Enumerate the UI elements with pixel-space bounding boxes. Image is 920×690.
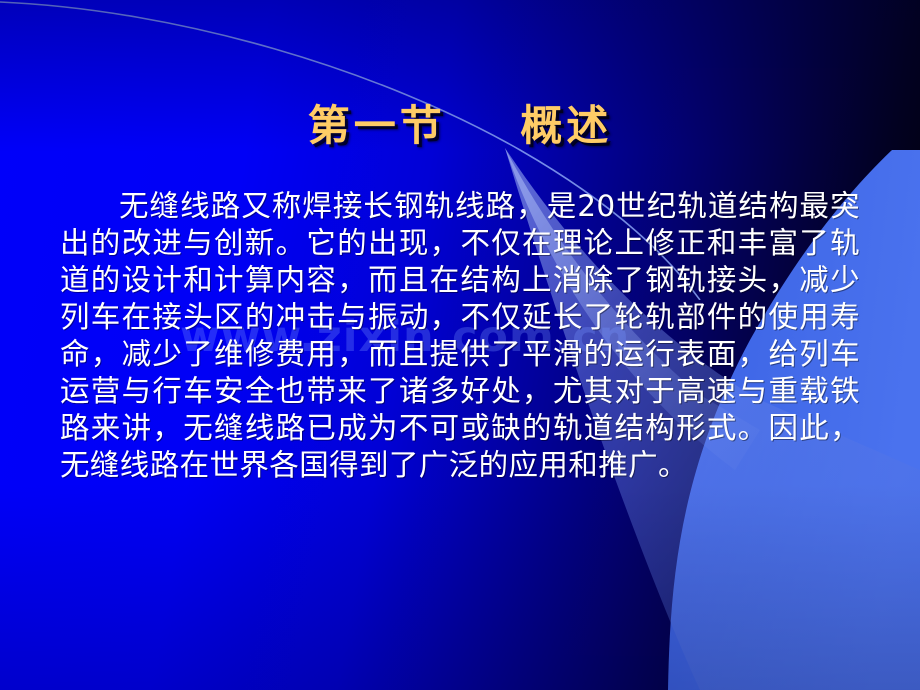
slide-title: 第一节 概述 — [0, 92, 920, 153]
presentation-slide: www.zixin.com.cn 第一节 概述 无缝线路又称焊接长钢轨线路，是2… — [0, 0, 920, 690]
slide-body-paragraph: 无缝线路又称焊接长钢轨线路，是20世纪轨道结构最突出的改进与创新。它的出现，不仅… — [60, 188, 860, 484]
